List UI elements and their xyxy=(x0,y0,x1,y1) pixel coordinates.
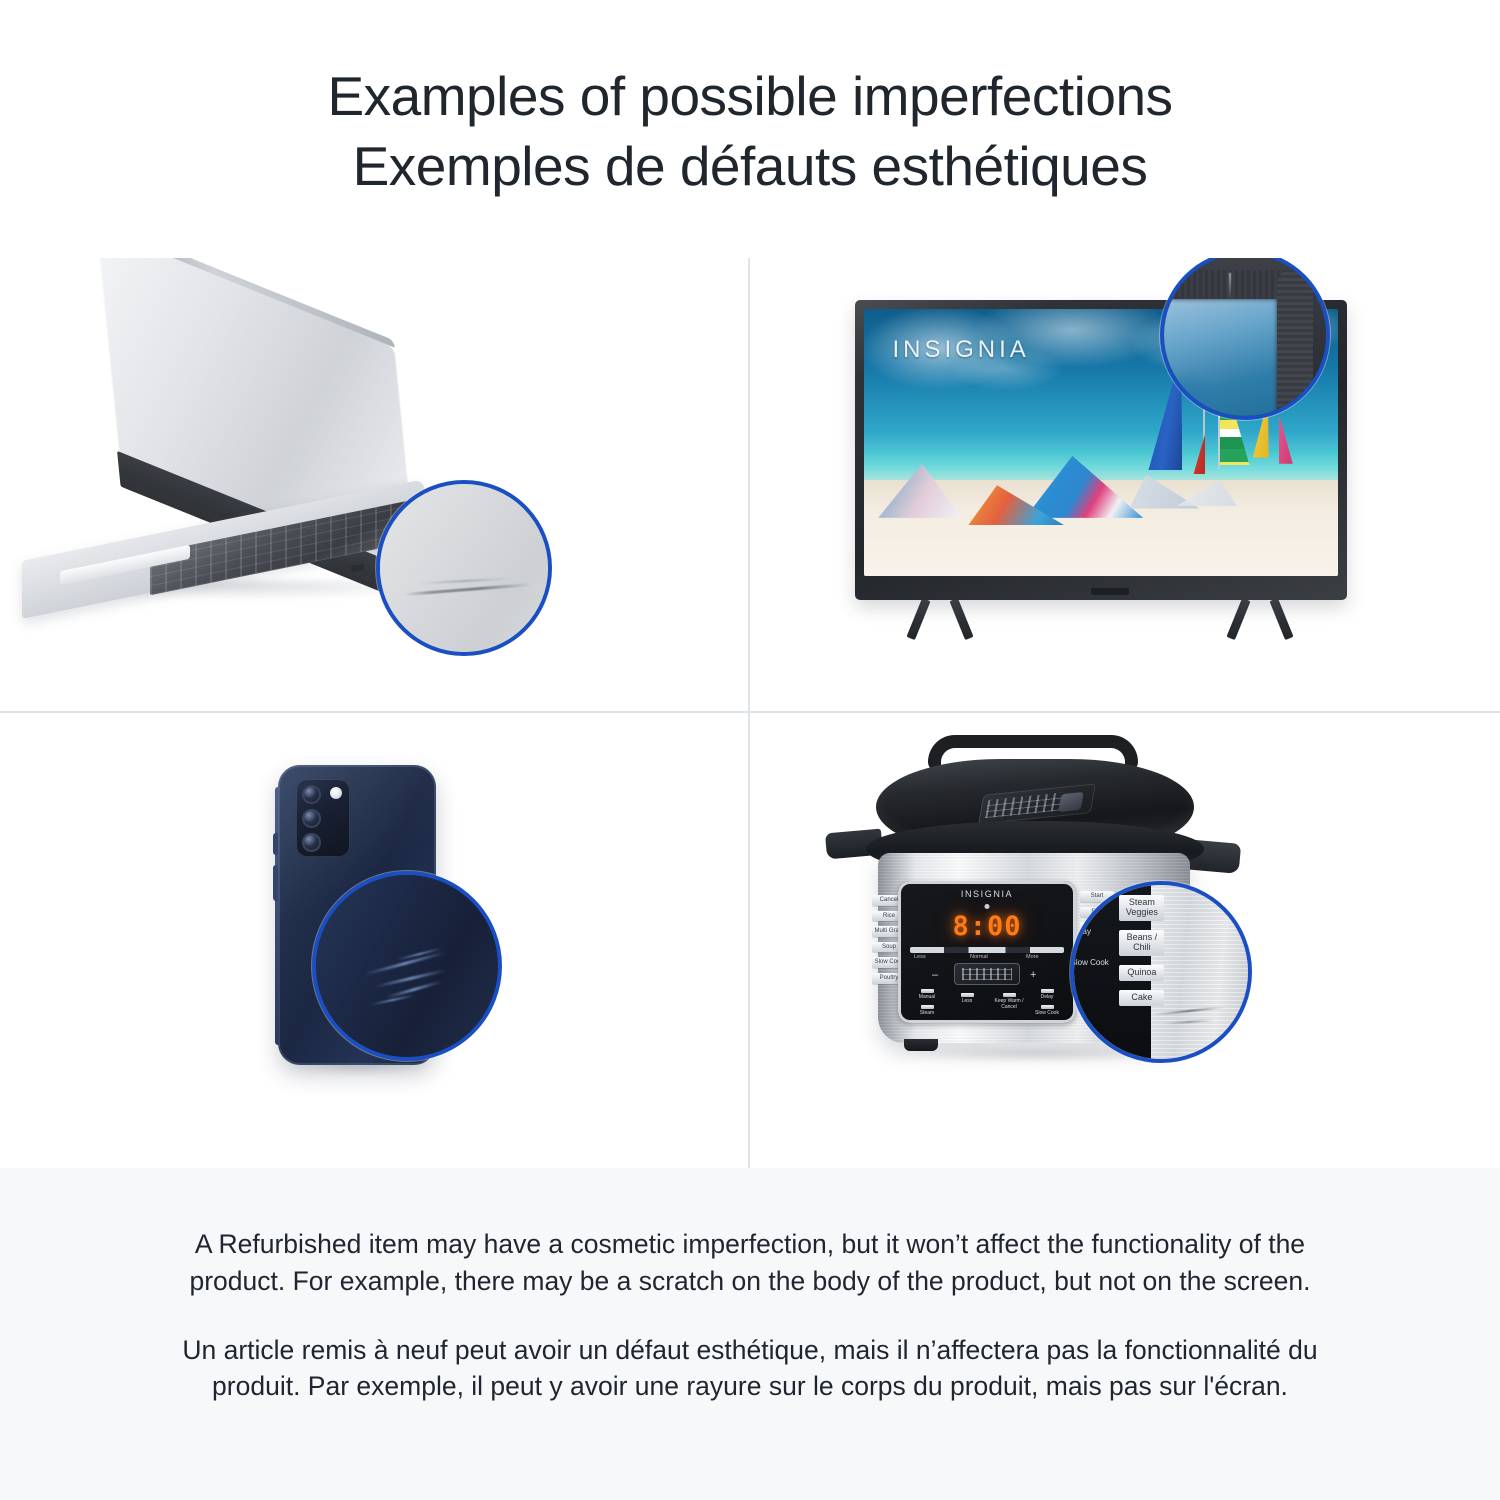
examples-grid: INSIGNIA xyxy=(0,258,1500,1168)
cooker-time-display: 8:00 xyxy=(952,911,1021,942)
cooker-panel-button[interactable]: Slow Cook xyxy=(1032,1005,1062,1017)
cooker-control-panel[interactable]: INSIGNIA 8:00 Less Normal More – + Manua… xyxy=(898,881,1076,1023)
laptop-magnified-surface xyxy=(376,480,552,656)
tv-magnified-bezel-right xyxy=(1277,270,1313,419)
cooker-magnified-buttons: Steam Veggies Beans / Chili Quinoa Cake xyxy=(1119,895,1164,1005)
cooker-plus-button[interactable]: + xyxy=(1030,969,1036,981)
cooker-scratch-magnifier: Delay Slow Cook Steam Veggies Beans / Ch… xyxy=(1070,881,1252,1063)
cooker-magnified-label: Delay xyxy=(1071,927,1120,936)
cooker-magnified-button[interactable]: Quinoa xyxy=(1119,965,1164,981)
cooker-panel-button[interactable]: Less xyxy=(952,993,982,1005)
phone-flash-icon xyxy=(330,787,342,799)
cooker-pressure-slider[interactable] xyxy=(910,947,1064,953)
tv-bezel-magnifier xyxy=(1160,258,1330,420)
tv-magnified-glass xyxy=(1160,299,1277,420)
cooker-button-cap xyxy=(921,1005,934,1009)
tv-leg-right xyxy=(1230,598,1290,638)
phone-camera-lens-3 xyxy=(302,833,321,852)
refurbished-imperfections-infographic: Examples of possible imperfections Exemp… xyxy=(0,0,1500,1500)
example-smartphone xyxy=(0,713,750,1168)
tv-bezel-scuff xyxy=(1229,273,1231,301)
cooker-slider-label: Less xyxy=(914,954,926,960)
page-title-en: Examples of possible imperfections xyxy=(327,62,1172,132)
tv-bottom-badge xyxy=(1091,588,1129,595)
laptop-scratch-magnifier xyxy=(376,480,552,656)
cooker-slider-label: More xyxy=(1026,954,1039,960)
phone-magnified-surface xyxy=(312,871,502,1061)
cooker-brand-logo: INSIGNIA xyxy=(961,889,1013,899)
cooker-minus-button[interactable]: – xyxy=(932,969,938,981)
phone-volume-button xyxy=(273,833,278,855)
cooker-button-cap xyxy=(1041,989,1054,993)
cooker-magnified-button[interactable]: Beans / Chili xyxy=(1119,930,1164,956)
example-television: INSIGNIA xyxy=(750,258,1500,713)
cooker-panel-button[interactable]: Keep Warm / Cancel xyxy=(994,993,1024,1011)
laptop-illustration xyxy=(0,258,750,713)
cooker-keypad[interactable] xyxy=(954,963,1020,985)
cooker-magnified-panel-labels: Delay Slow Cook xyxy=(1071,927,1120,967)
footer-disclaimer: A Refurbished item may have a cosmetic i… xyxy=(0,1168,1500,1500)
pressure-cooker-illustration: Cancel Rice Multi Grain Soup Slow Cook P… xyxy=(750,713,1500,1168)
television-illustration: INSIGNIA xyxy=(750,258,1500,713)
phone-camera-lens-2 xyxy=(302,809,321,828)
phone-camera-lens-1 xyxy=(302,785,321,804)
cooker-slider-label: Normal xyxy=(970,954,988,960)
cooker-panel-button[interactable]: Delay xyxy=(1032,989,1062,1001)
page-title-fr: Exemples de défauts esthétiques xyxy=(353,132,1148,202)
cooker-indicator-led xyxy=(985,904,990,909)
cooker-foot-left xyxy=(904,1039,938,1051)
phone-scratch-magnifier xyxy=(312,871,502,1061)
tv-leg-left xyxy=(910,598,970,638)
cooker-panel-button[interactable]: Steam xyxy=(912,1005,942,1017)
disclaimer-fr: Un article remis à neuf peut avoir un dé… xyxy=(150,1332,1350,1406)
cooker-button-cap xyxy=(1003,993,1016,997)
cooker-button-cap xyxy=(921,989,934,993)
phone-power-button xyxy=(273,865,278,901)
example-pressure-cooker: Cancel Rice Multi Grain Soup Slow Cook P… xyxy=(750,713,1500,1168)
header: Examples of possible imperfections Exemp… xyxy=(0,0,1500,258)
smartphone-illustration xyxy=(0,713,750,1168)
cooker-magnified-label: Slow Cook xyxy=(1071,958,1120,967)
cooker-magnified-button[interactable]: Steam Veggies xyxy=(1119,895,1164,921)
example-laptop xyxy=(0,258,750,713)
cooker-button-cap xyxy=(1041,1005,1054,1009)
disclaimer-en: A Refurbished item may have a cosmetic i… xyxy=(150,1226,1350,1300)
cooker-panel-button[interactable]: Manual xyxy=(912,989,942,1001)
tv-brand-logo: INSIGNIA xyxy=(892,336,1029,364)
cooker-magnified-button[interactable]: Cake xyxy=(1119,990,1164,1006)
cooker-button-cap xyxy=(961,993,974,997)
